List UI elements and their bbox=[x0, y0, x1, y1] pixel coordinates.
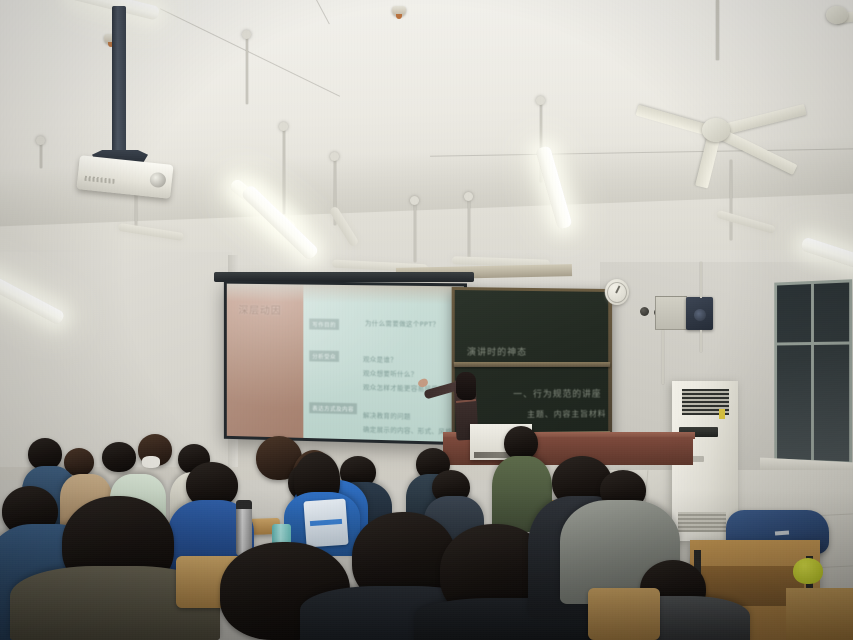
slide-title: 深层动因 bbox=[239, 302, 282, 317]
light-hanger-rod bbox=[246, 34, 248, 104]
light-hanger-rod bbox=[468, 196, 470, 260]
teacher-head bbox=[456, 372, 476, 400]
face-mask bbox=[142, 456, 160, 468]
light-hanger-rod bbox=[730, 160, 732, 240]
fan-hub bbox=[702, 118, 730, 142]
wall-conduit bbox=[700, 262, 702, 298]
classroom-photo-scene: 深层动因 写作目的 分析受众 表达方式及内容 为什么需要做这个PPT？ 观众是谁… bbox=[0, 0, 853, 640]
light-ceiling-cap bbox=[36, 136, 45, 145]
classroom-window bbox=[774, 279, 852, 464]
slide-line: 观众是谁？ bbox=[363, 353, 397, 364]
wall-conduit bbox=[662, 330, 664, 384]
chalk-text: 演讲时的神态 bbox=[467, 345, 527, 358]
student-head bbox=[102, 442, 136, 472]
light-ceiling-cap bbox=[464, 192, 473, 201]
projector-lens bbox=[149, 172, 166, 189]
fan-hub bbox=[826, 6, 848, 24]
projector-vent bbox=[84, 176, 114, 184]
chalk-text: 主题、内容主旨材料 bbox=[527, 408, 606, 420]
yellow-helmet bbox=[793, 558, 823, 584]
slide-tag: 分析受众 bbox=[309, 350, 339, 362]
projector-mount-pole bbox=[112, 6, 126, 154]
ac-energy-sticker bbox=[719, 409, 725, 419]
blackboard-chalk-rail bbox=[454, 362, 610, 367]
light-ceiling-cap bbox=[410, 196, 419, 205]
wall-knob bbox=[640, 307, 649, 316]
slide-tag: 表达方式及内容 bbox=[309, 402, 357, 414]
thermos-cap bbox=[236, 500, 252, 509]
wall-speaker bbox=[686, 297, 713, 330]
slide-line: 为什么需要做这个PPT？ bbox=[365, 317, 439, 328]
slide-line: 观众想要听什么？ bbox=[363, 367, 418, 378]
light-ceiling-cap bbox=[330, 152, 339, 161]
electrical-junction-box bbox=[655, 296, 687, 330]
wall-clock-ring bbox=[607, 282, 627, 303]
light-ceiling-cap bbox=[279, 122, 288, 131]
light-ceiling-cap bbox=[242, 30, 251, 39]
light-ceiling-cap bbox=[536, 96, 545, 105]
ac-outlet-grill bbox=[678, 512, 726, 532]
student-head bbox=[504, 426, 538, 460]
fire-sprinkler-head bbox=[392, 6, 406, 16]
chalk-text: 一、行为规范的讲座 bbox=[513, 387, 601, 400]
projection-screen: 深层动因 写作目的 分析受众 表达方式及内容 为什么需要做这个PPT？ 观众是谁… bbox=[224, 281, 467, 446]
slide-line: 解决教育的问题 bbox=[363, 409, 411, 420]
fan-down-rod bbox=[716, 0, 719, 60]
light-hanger-rod bbox=[414, 200, 416, 262]
window-mullion bbox=[811, 284, 814, 460]
left-wall bbox=[0, 252, 232, 467]
presentation-slide: 深层动因 写作目的 分析受众 表达方式及内容 为什么需要做这个PPT？ 观众是谁… bbox=[227, 284, 464, 443]
student-chair bbox=[786, 588, 853, 640]
wall-conduit bbox=[700, 330, 702, 352]
chair-back bbox=[588, 588, 660, 640]
light-hanger-rod bbox=[283, 126, 285, 214]
slide-tag: 写作目的 bbox=[309, 318, 339, 329]
